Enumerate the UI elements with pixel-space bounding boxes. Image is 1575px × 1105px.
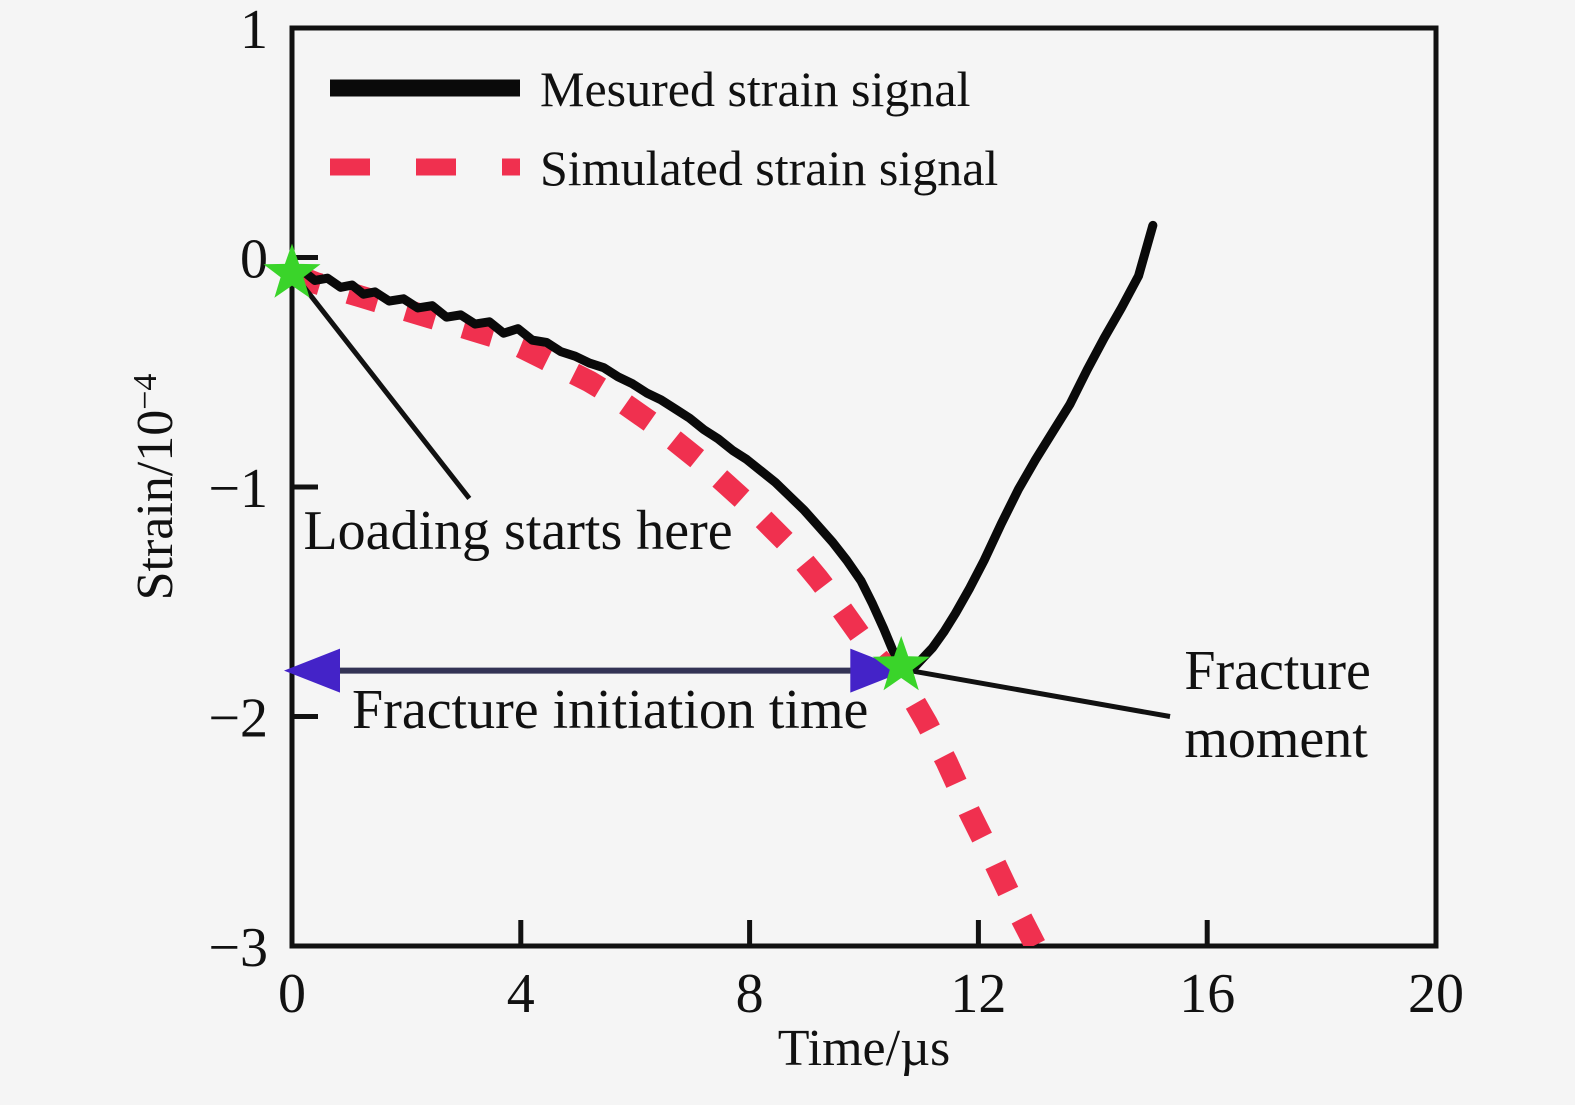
x-tick-label-16: 16 [1179,963,1235,1025]
x-tick-label-8: 8 [736,963,764,1025]
x-tick-label-12: 12 [950,963,1006,1025]
y-axis-title-exponent: −4 [127,374,164,410]
strain-time-plot: 048121620 10−1−2−3 Loading starts hereFr… [0,0,1575,1100]
x-tick-label-0: 0 [278,963,306,1025]
legend-label-measured: Mesured strain signal [540,61,970,117]
loading-starts-here-label: Loading starts here [303,500,732,562]
x-tick-label-4: 4 [507,963,535,1025]
y-tick-label--3: −3 [208,917,268,979]
fracture-moment-label-line1: Fracture [1184,640,1371,702]
chart-figure: 048121620 10−1−2−3 Loading starts hereFr… [0,0,1575,1100]
x-axis-title: Time/µs [778,1020,951,1077]
y-tick-label-0: 0 [240,229,268,291]
y-tick-label-1: 1 [240,0,268,61]
y-axis-title-main: Strain/10 [127,410,184,601]
fracture-moment-label-line2: moment [1184,708,1368,770]
y-tick-label--1: −1 [208,458,268,520]
fracture-initiation-time-label: Fracture initiation time [352,679,868,741]
legend-label-simulated: Simulated strain signal [540,140,998,196]
x-tick-label-20: 20 [1408,963,1464,1025]
y-tick-label--2: −2 [208,688,268,750]
